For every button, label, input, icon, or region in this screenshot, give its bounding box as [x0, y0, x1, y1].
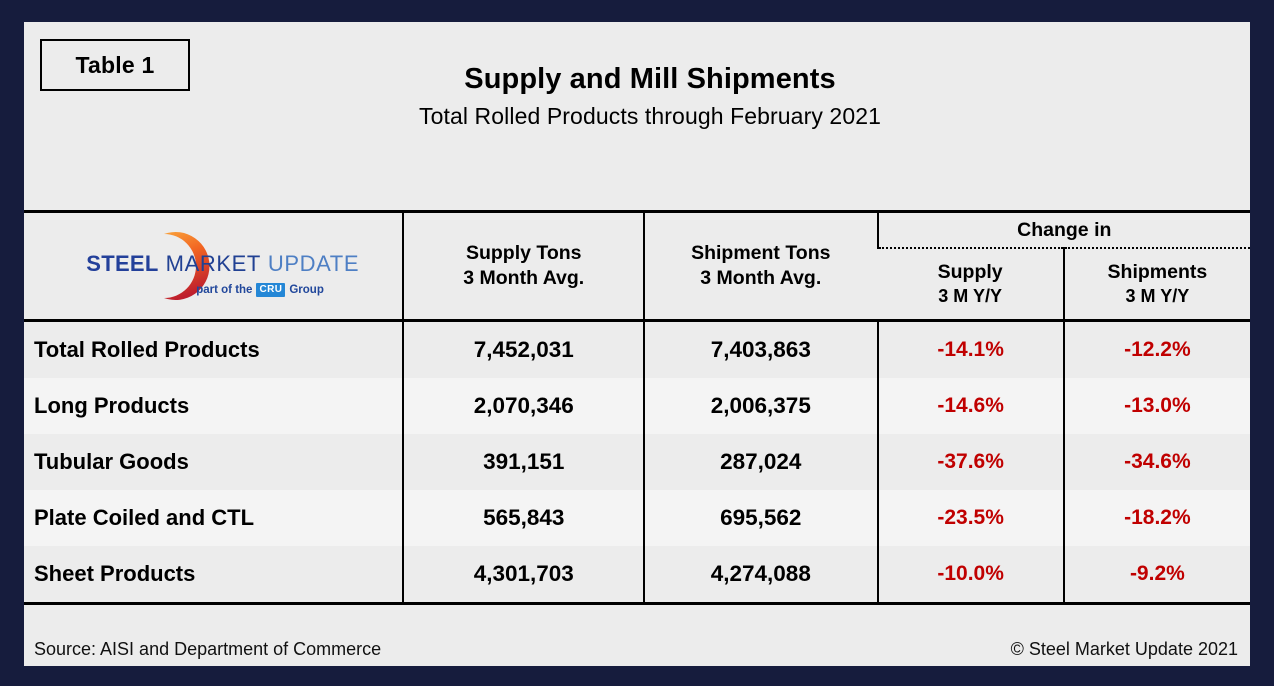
- logo-wordmark: STEELMARKETUPDATE: [86, 253, 348, 275]
- row-change-shipments: -13.0%: [1064, 378, 1250, 434]
- data-table: STEELMARKETUPDATE part of the CRU Group …: [24, 210, 1250, 605]
- row-label: Tubular Goods: [24, 434, 403, 490]
- table-row: Sheet Products 4,301,703 4,274,088 -10.0…: [24, 546, 1250, 604]
- row-supply-tons: 7,452,031: [403, 321, 644, 379]
- cru-badge: CRU: [256, 283, 285, 297]
- table-row: Long Products 2,070,346 2,006,375 -14.6%…: [24, 378, 1250, 434]
- column-header-change-shipments-line1: Shipments: [1065, 260, 1250, 285]
- steel-market-update-logo: STEELMARKETUPDATE part of the CRU Group: [78, 227, 348, 305]
- row-supply-tons: 2,070,346: [403, 378, 644, 434]
- row-change-shipments: -12.2%: [1064, 321, 1250, 379]
- logo-tagline-post: Group: [289, 283, 324, 297]
- column-header-shipment-tons: Shipment Tons 3 Month Avg.: [644, 212, 878, 321]
- row-shipment-tons: 7,403,863: [644, 321, 878, 379]
- logo-tagline-pre: part of the: [196, 283, 252, 297]
- row-change-shipments: -34.6%: [1064, 434, 1250, 490]
- column-header-supply-tons-line1: Supply Tons: [404, 241, 643, 266]
- row-change-supply: -10.0%: [878, 546, 1064, 604]
- footer-copyright: © Steel Market Update 2021: [1011, 639, 1238, 660]
- column-header-shipment-tons-line2: 3 Month Avg.: [645, 266, 877, 291]
- logo-word-update: UPDATE: [268, 251, 359, 276]
- row-shipment-tons: 287,024: [644, 434, 878, 490]
- column-header-change-shipments: Shipments 3 M Y/Y: [1064, 248, 1250, 321]
- column-header-change-supply: Supply 3 M Y/Y: [878, 248, 1064, 321]
- column-header-change-supply-line2: 3 M Y/Y: [878, 285, 1063, 308]
- row-label: Sheet Products: [24, 546, 403, 604]
- title-block: Table 1 Supply and Mill Shipments Total …: [24, 22, 1250, 210]
- logo-cell: STEELMARKETUPDATE part of the CRU Group: [24, 212, 403, 321]
- footer-source: Source: AISI and Department of Commerce: [34, 639, 381, 660]
- column-header-supply-tons: Supply Tons 3 Month Avg.: [403, 212, 644, 321]
- row-supply-tons: 391,151: [403, 434, 644, 490]
- row-label: Plate Coiled and CTL: [24, 490, 403, 546]
- table-card: Table 1 Supply and Mill Shipments Total …: [24, 22, 1250, 666]
- column-header-supply-tons-line2: 3 Month Avg.: [404, 266, 643, 291]
- table-row: Total Rolled Products 7,452,031 7,403,86…: [24, 321, 1250, 379]
- table-row: Plate Coiled and CTL 565,843 695,562 -23…: [24, 490, 1250, 546]
- row-shipment-tons: 2,006,375: [644, 378, 878, 434]
- row-shipment-tons: 695,562: [644, 490, 878, 546]
- screenshot-root: Table 1 Supply and Mill Shipments Total …: [0, 0, 1274, 686]
- page-subtitle: Total Rolled Products through February 2…: [50, 102, 1250, 132]
- table-header-row-group: STEELMARKETUPDATE part of the CRU Group …: [24, 212, 1250, 249]
- row-change-supply: -14.1%: [878, 321, 1064, 379]
- column-header-shipment-tons-line1: Shipment Tons: [645, 241, 877, 266]
- row-label: Long Products: [24, 378, 403, 434]
- logo-word-steel: STEEL: [86, 251, 158, 276]
- footer-inner: Source: AISI and Department of Commerce …: [34, 605, 1238, 666]
- row-change-shipments: -9.2%: [1064, 546, 1250, 604]
- row-supply-tons: 565,843: [403, 490, 644, 546]
- row-change-shipments: -18.2%: [1064, 490, 1250, 546]
- footer: Source: AISI and Department of Commerce …: [24, 605, 1250, 666]
- logo-word-market: MARKET: [166, 251, 261, 276]
- row-change-supply: -37.6%: [878, 434, 1064, 490]
- column-header-change-supply-line1: Supply: [878, 260, 1063, 285]
- page-title: Supply and Mill Shipments: [50, 62, 1250, 97]
- row-shipment-tons: 4,274,088: [644, 546, 878, 604]
- title-wrap: Supply and Mill Shipments Total Rolled P…: [24, 62, 1250, 132]
- column-header-change-group: Change in: [878, 212, 1250, 249]
- row-change-supply: -23.5%: [878, 490, 1064, 546]
- row-supply-tons: 4,301,703: [403, 546, 644, 604]
- logo-tagline: part of the CRU Group: [196, 283, 324, 297]
- table-row: Tubular Goods 391,151 287,024 -37.6% -34…: [24, 434, 1250, 490]
- column-header-change-shipments-line2: 3 M Y/Y: [1065, 285, 1250, 308]
- row-label: Total Rolled Products: [24, 321, 403, 379]
- row-change-supply: -14.6%: [878, 378, 1064, 434]
